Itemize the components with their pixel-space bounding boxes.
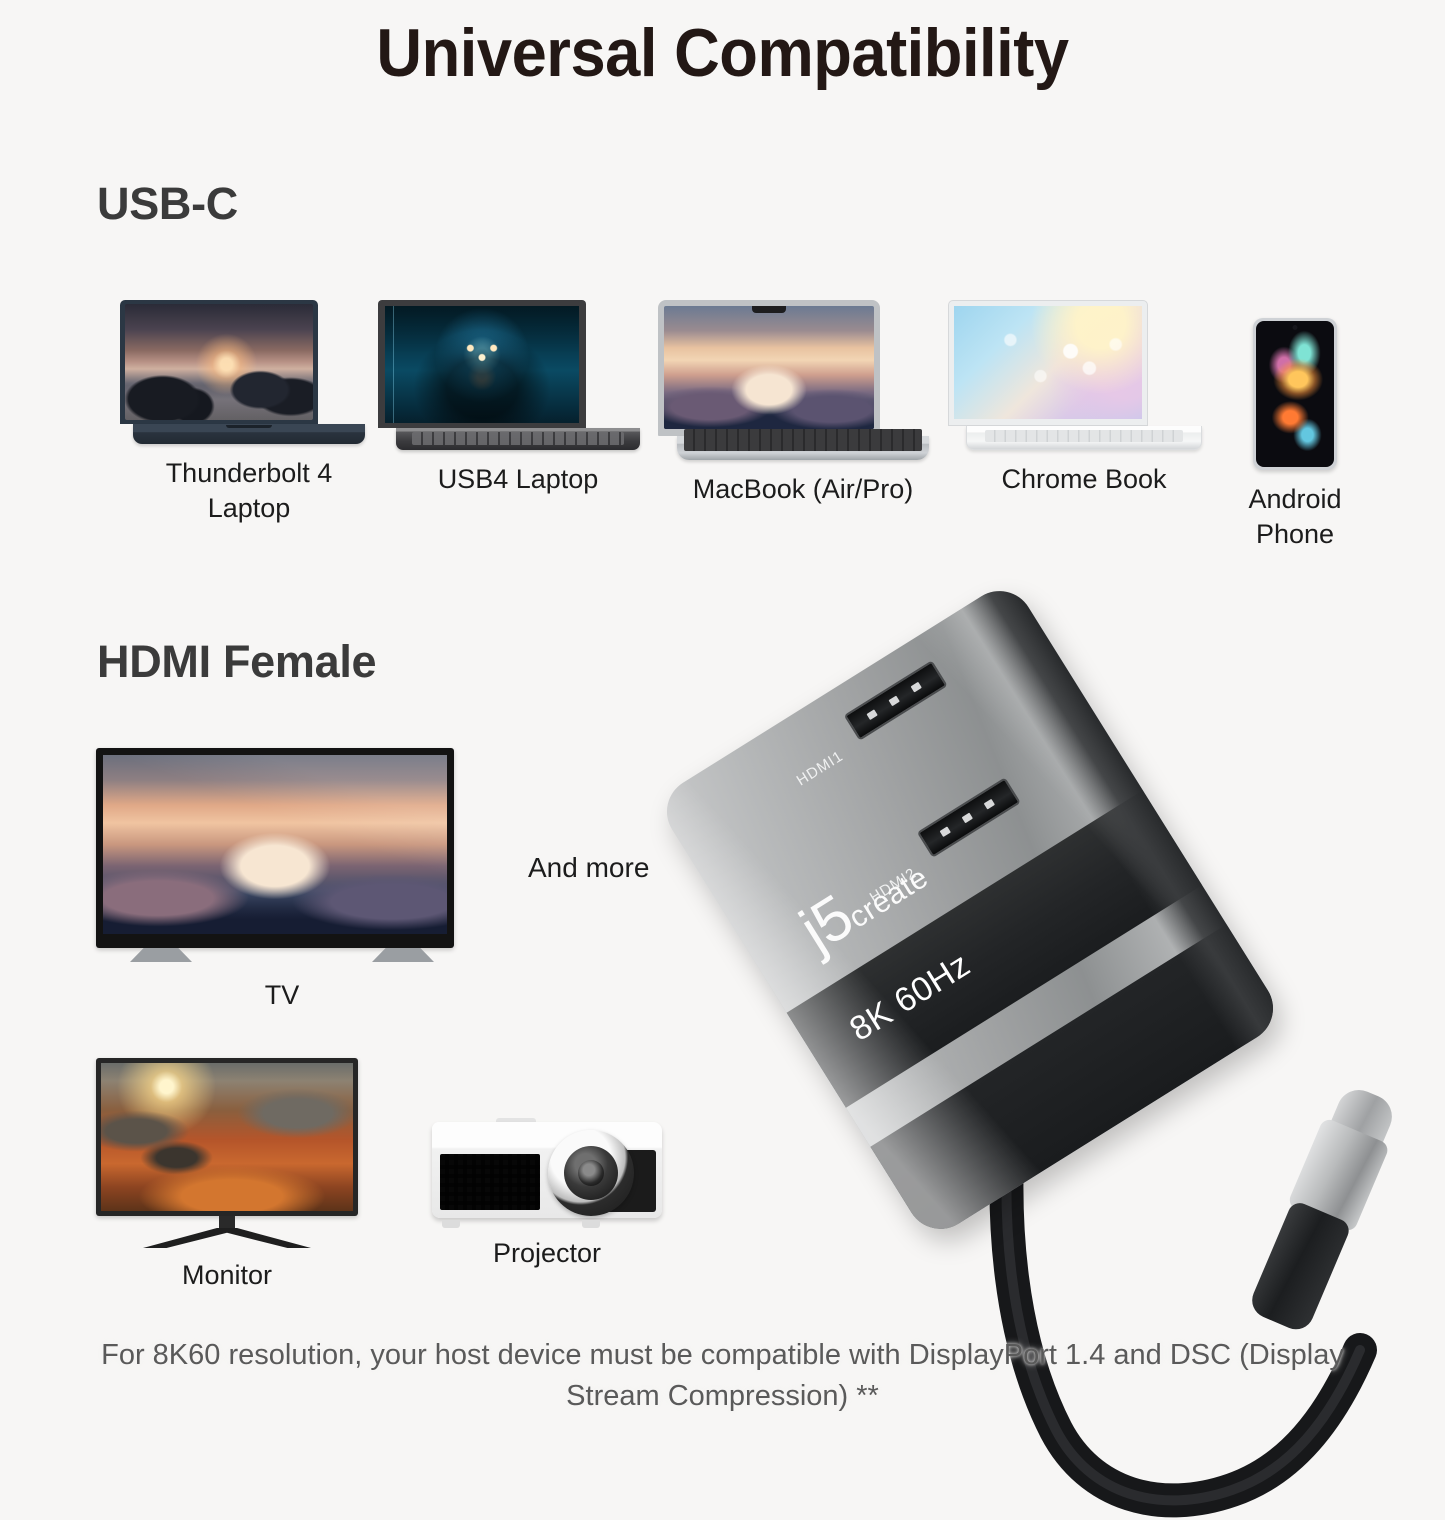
laptop-screen-wallpaper (954, 306, 1142, 419)
phone-screen-wallpaper (1256, 321, 1334, 467)
device-card-projector: Projector (432, 1116, 662, 1269)
monitor-screen-wallpaper (101, 1063, 353, 1211)
laptop-lid (658, 300, 880, 436)
smartphone-icon (1220, 318, 1370, 470)
device-card-android-phone: Android Phone (1220, 300, 1370, 551)
laptop-icon (120, 300, 378, 444)
laptop-base (677, 436, 929, 460)
laptop-lid (378, 300, 586, 428)
tv-bezel (96, 748, 454, 948)
section-heading-hdmi-female: HDMI Female (97, 636, 376, 688)
keyboard-deck (684, 429, 922, 451)
laptop-lid (120, 300, 318, 424)
device-label: Projector (432, 1238, 662, 1269)
laptop-base (396, 428, 640, 450)
device-label: TV (96, 980, 468, 1011)
projector-icon (432, 1116, 662, 1228)
camera-notch-icon (752, 306, 786, 313)
monitor-icon (96, 1058, 358, 1250)
projector-foot (582, 1220, 600, 1228)
laptop-icon (378, 300, 658, 450)
and-more-text: And more (528, 852, 649, 884)
laptop-screen-wallpaper (664, 306, 874, 429)
usbc-device-row: Thunderbolt 4 Laptop USB4 Laptop MacBook… (120, 300, 1410, 551)
tv-stand (96, 948, 468, 970)
device-label: Android Phone (1220, 482, 1370, 551)
laptop-screen-wallpaper (125, 304, 313, 420)
device-label: Thunderbolt 4 Laptop (120, 456, 378, 525)
projector-foot (442, 1220, 460, 1228)
monitor-stand (96, 1216, 358, 1250)
device-card-monitor: Monitor (96, 1058, 358, 1291)
laptop-base (966, 426, 1202, 450)
device-label: Chrome Book (948, 462, 1220, 497)
phone-body (1253, 318, 1337, 470)
page-title: Universal Compatibility (51, 14, 1395, 92)
device-card-macbook: MacBook (Air/Pro) (658, 300, 948, 507)
device-label: Monitor (96, 1260, 358, 1291)
footnote-text: For 8K60 resolution, your host device mu… (0, 1335, 1445, 1417)
tv-screen-wallpaper (103, 755, 447, 934)
laptop-screen-wallpaper (385, 306, 579, 423)
monitor-bezel (96, 1058, 358, 1216)
projector-vent-grille (440, 1154, 540, 1210)
device-card-tv: TV (96, 748, 468, 1011)
device-label: MacBook (Air/Pro) (658, 472, 948, 507)
product-photo: HDMI1 HDMI2 j5create 8K 60Hz (740, 620, 1440, 1420)
projector-lens-inner (578, 1160, 604, 1186)
section-heading-usb-c: USB-C (97, 178, 238, 230)
device-card-thunderbolt4: Thunderbolt 4 Laptop (120, 300, 378, 525)
laptop-lid (948, 300, 1148, 426)
device-label: USB4 Laptop (378, 462, 658, 497)
device-card-usb4: USB4 Laptop (378, 300, 658, 497)
laptop-icon (948, 300, 1220, 450)
connector-strain-relief (1247, 1199, 1353, 1334)
laptop-base (133, 424, 365, 444)
television-icon (96, 748, 468, 970)
device-card-chromebook: Chrome Book (948, 300, 1220, 497)
laptop-icon (658, 300, 948, 460)
